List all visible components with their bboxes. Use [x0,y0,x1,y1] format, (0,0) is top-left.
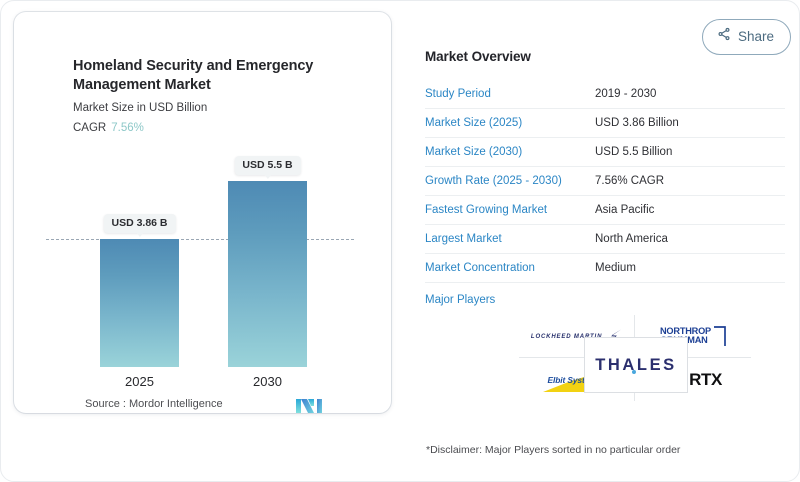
page-root: Homeland Security and Emergency Manageme… [0,0,800,482]
row-label: Market Size (2025) [425,117,595,129]
table-row-growth-rate: Growth Rate (2025 - 2030) 7.56% CAGR [425,167,785,196]
share-button-label: Share [738,29,774,44]
row-label: Market Concentration [425,262,595,274]
disclaimer-text: *Disclaimer: Major Players sorted in no … [426,444,680,456]
cagr-label: CAGR [73,122,106,134]
x-axis-tick-2025: 2025 [100,374,179,389]
chart-subtitle: Market Size in USD Billion [73,102,207,114]
bar-2030[interactable] [228,181,307,367]
rtx-logo-text: RTX [689,370,722,390]
row-label: Fastest Growing Market [425,204,595,216]
cagr-value: 7.56% [111,122,144,134]
bar-value-label-2025: USD 3.86 B [103,214,175,233]
row-value: 2019 - 2030 [595,88,656,100]
mordor-intelligence-logo [295,397,326,415]
source-label: Source : Mordor Intelligence [85,398,223,410]
row-label: Study Period [425,88,595,100]
share-nodes-icon [717,27,731,46]
thales-logo: THALES [595,356,677,375]
row-value: USD 5.5 Billion [595,146,672,158]
table-row-largest-market: Largest Market North America [425,225,785,254]
chart-title: Homeland Security and Emergency Manageme… [73,57,373,96]
chart-card: Homeland Security and Emergency Manageme… [14,12,391,413]
table-row-market-size-2030: Market Size (2030) USD 5.5 Billion [425,138,785,167]
row-value: Medium [595,262,636,274]
row-label: Largest Market [425,233,595,245]
market-overview-title: Market Overview [425,49,785,64]
table-row-fastest-growing-market: Fastest Growing Market Asia Pacific [425,196,785,225]
thales-dot-icon [632,370,636,374]
row-value: Asia Pacific [595,204,654,216]
row-value: USD 3.86 Billion [595,117,679,129]
row-label: Growth Rate (2025 - 2030) [425,175,595,187]
major-players-label: Major Players [425,294,595,306]
reference-dashed-line [46,239,354,240]
table-row-study-period: Study Period 2019 - 2030 [425,80,785,109]
row-value: North America [595,233,668,245]
major-players-logo-grid: LOCKHEED MARTIN NORTHROP GRUMMAN [519,315,751,401]
bar-value-label-2030: USD 5.5 B [234,156,300,175]
row-value: 7.56% CAGR [595,175,664,187]
northrop-bracket-icon [713,326,726,347]
logo-cell-thales: THALES [584,337,688,393]
row-label: Market Size (2030) [425,146,595,158]
market-overview-panel: Market Overview Study Period 2019 - 2030… [425,49,785,317]
cagr-row: CAGR7.56% [73,122,144,134]
x-axis-tick-2030: 2030 [228,374,307,389]
table-row-major-players: Major Players [425,283,785,317]
bar-chart-plot-area: USD 3.86 B USD 5.5 B 2025 2030 [73,152,353,367]
bar-2025[interactable] [100,239,179,367]
table-row-market-size-2025: Market Size (2025) USD 3.86 Billion [425,109,785,138]
table-row-market-concentration: Market Concentration Medium [425,254,785,283]
